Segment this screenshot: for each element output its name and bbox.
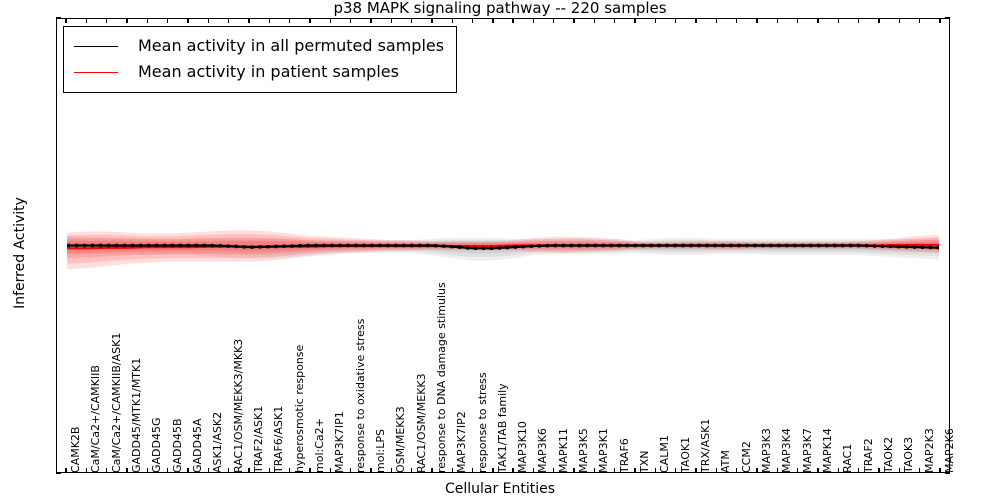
x-tick-label: MAP3K7IP1: [334, 411, 345, 473]
x-tick-label: TRX/ASK1: [700, 419, 711, 473]
x-tick-label: MAP3K7IP2: [456, 411, 467, 473]
x-tick-mark: [269, 18, 270, 23]
x-tick-label: OSM/MEKK3: [395, 406, 406, 473]
x-tick-label: TAOK1: [680, 437, 691, 473]
x-tick-mark: [492, 18, 493, 23]
x-tick-mark: [573, 468, 574, 473]
x-tick-mark: [878, 468, 879, 473]
chart-legend: Mean activity in all permuted samples Me…: [63, 26, 457, 93]
x-tick-mark: [797, 468, 798, 473]
x-tick-mark: [919, 468, 920, 473]
x-tick-mark: [634, 18, 635, 23]
x-tick-mark: [716, 18, 717, 23]
x-tick-mark: [858, 18, 859, 23]
x-tick-mark: [553, 468, 554, 473]
chart-title: p38 MAPK signaling pathway -- 220 sample…: [0, 0, 1000, 17]
x-tick-mark: [187, 468, 188, 473]
x-tick-mark: [187, 18, 188, 23]
x-tick-label: GADD45/MTK1/MTK1: [131, 358, 142, 473]
x-tick-label: MAP3K1: [598, 428, 609, 473]
x-tick-mark: [756, 18, 757, 23]
x-tick-mark: [553, 18, 554, 23]
x-tick-mark: [817, 468, 818, 473]
x-tick-mark: [147, 18, 148, 23]
x-tick-mark: [736, 18, 737, 23]
x-tick-mark: [899, 18, 900, 23]
x-tick-mark: [330, 468, 331, 473]
x-tick-label: CaM/Ca2+/CAMKIIB/ASK1: [111, 333, 122, 473]
x-tick-mark: [614, 18, 615, 23]
x-tick-label: TRAF6/ASK1: [273, 406, 284, 473]
x-tick-mark: [452, 468, 453, 473]
x-tick-mark: [167, 468, 168, 473]
x-tick-mark: [695, 468, 696, 473]
x-tick-mark: [695, 18, 696, 23]
x-tick-label: mol:Ca2+: [314, 418, 325, 473]
legend-item-patient: Mean activity in patient samples: [74, 59, 444, 85]
legend-item-permuted: Mean activity in all permuted samples: [74, 33, 444, 59]
x-tick-label: GADD45A: [192, 418, 203, 473]
x-tick-label: GADD45G: [151, 417, 162, 473]
x-tick-label: CAMK2B: [70, 427, 81, 473]
x-tick-mark: [289, 18, 290, 23]
x-tick-mark: [248, 18, 249, 23]
x-tick-mark: [309, 18, 310, 23]
x-tick-mark: [370, 468, 371, 473]
x-tick-label: response to oxidative stress: [355, 319, 366, 473]
x-tick-mark: [411, 468, 412, 473]
x-tick-label: CALM1: [659, 435, 670, 473]
x-tick-label: RAC1/OSM/MEKK3: [416, 373, 427, 473]
x-tick-mark: [86, 468, 87, 473]
x-tick-label: CaM/Ca2+/CAMKIIB: [90, 365, 101, 473]
x-tick-label: MAP3K3: [761, 428, 772, 473]
x-tick-label: MAPK11: [558, 428, 569, 473]
x-tick-mark: [126, 468, 127, 473]
x-tick-label: response to DNA damage stimulus: [436, 282, 447, 473]
x-tick-label: TAOK2: [883, 437, 894, 473]
x-tick-label: MAPK14: [822, 428, 833, 473]
x-tick-mark: [370, 18, 371, 23]
x-tick-mark: [614, 468, 615, 473]
x-tick-label: GADD45B: [172, 418, 183, 473]
x-tick-mark: [350, 18, 351, 23]
x-tick-mark: [655, 468, 656, 473]
x-tick-mark: [350, 468, 351, 473]
x-tick-mark: [106, 468, 107, 473]
x-tick-mark: [716, 468, 717, 473]
x-tick-label: MAP3K10: [517, 421, 528, 473]
x-tick-label: MAP3K5: [578, 428, 589, 473]
x-tick-mark: [756, 468, 757, 473]
x-tick-mark: [838, 18, 839, 23]
x-tick-mark: [309, 468, 310, 473]
y-axis-label: Inferred Activity: [13, 143, 27, 363]
x-tick-mark: [533, 468, 534, 473]
x-tick-mark: [147, 468, 148, 473]
x-tick-label: TRAF2: [863, 438, 874, 473]
x-tick-mark: [533, 18, 534, 23]
x-tick-mark: [919, 18, 920, 23]
x-tick-label: mol:LPS: [375, 429, 386, 473]
x-tick-mark: [817, 18, 818, 23]
x-tick-label: TRAF2/ASK1: [253, 406, 264, 473]
x-axis-label: Cellular Entities: [0, 481, 1000, 497]
x-tick-label: hyperosmotic response: [294, 345, 305, 473]
x-tick-mark: [594, 468, 595, 473]
legend-line-swatch-permuted: [74, 46, 118, 47]
x-tick-label: TAK1/TAB family: [497, 383, 508, 473]
x-tick-mark: [899, 468, 900, 473]
x-tick-label: ATM: [720, 450, 731, 473]
x-tick-mark: [492, 468, 493, 473]
x-tick-label: ASK1/ASK2: [212, 412, 223, 473]
x-tick-label: MAP3K7: [802, 428, 813, 473]
legend-line-swatch-patient: [74, 72, 118, 73]
x-tick-mark: [248, 468, 249, 473]
x-tick-mark: [106, 18, 107, 23]
x-tick-mark: [289, 468, 290, 473]
x-tick-mark: [391, 18, 392, 23]
x-tick-mark: [330, 18, 331, 23]
x-tick-mark: [472, 18, 473, 23]
x-tick-label: TXN: [639, 451, 650, 473]
x-tick-mark: [167, 18, 168, 23]
x-tick-label: MAP3K4: [781, 428, 792, 473]
x-tick-mark: [431, 468, 432, 473]
x-tick-label: MAP3K6: [537, 428, 548, 473]
x-tick-mark: [65, 468, 66, 473]
x-tick-mark: [594, 18, 595, 23]
x-tick-mark: [512, 468, 513, 473]
x-tick-mark: [411, 18, 412, 23]
x-tick-mark: [797, 18, 798, 23]
x-tick-mark: [208, 468, 209, 473]
x-tick-mark: [858, 468, 859, 473]
x-tick-mark: [228, 18, 229, 23]
x-tick-mark: [472, 468, 473, 473]
x-tick-mark: [391, 468, 392, 473]
x-tick-label: RAC1/OSM/MEKK3/MKK3: [233, 339, 244, 473]
x-tick-mark: [452, 18, 453, 23]
x-tick-mark: [736, 468, 737, 473]
x-tick-label: TAOK3: [903, 437, 914, 473]
x-tick-label: TRAF6: [619, 438, 630, 473]
x-tick-mark: [838, 468, 839, 473]
x-tick-mark: [573, 18, 574, 23]
x-tick-mark: [126, 18, 127, 23]
x-tick-mark: [878, 18, 879, 23]
x-tick-label: RAC1: [842, 444, 853, 473]
x-tick-label: response to stress: [477, 372, 488, 473]
x-tick-label: CCM2: [741, 441, 752, 473]
x-tick-mark: [675, 468, 676, 473]
legend-label-patient: Mean activity in patient samples: [138, 64, 399, 80]
x-tick-mark: [675, 18, 676, 23]
x-tick-mark: [777, 468, 778, 473]
x-tick-mark: [431, 18, 432, 23]
x-tick-mark: [655, 18, 656, 23]
x-tick-mark: [777, 18, 778, 23]
x-tick-mark: [512, 18, 513, 23]
x-tick-mark: [939, 468, 940, 473]
x-tick-label: MAP2K3: [924, 428, 935, 473]
x-tick-mark: [65, 18, 66, 23]
chart-figure: p38 MAPK signaling pathway -- 220 sample…: [0, 0, 1000, 500]
x-tick-mark: [269, 468, 270, 473]
x-tick-mark: [634, 468, 635, 473]
x-tick-mark: [86, 18, 87, 23]
legend-label-permuted: Mean activity in all permuted samples: [138, 38, 444, 54]
x-tick-mark: [228, 468, 229, 473]
x-tick-mark: [939, 18, 940, 23]
x-tick-mark: [208, 18, 209, 23]
x-tick-label: MAP2K6: [944, 428, 955, 473]
